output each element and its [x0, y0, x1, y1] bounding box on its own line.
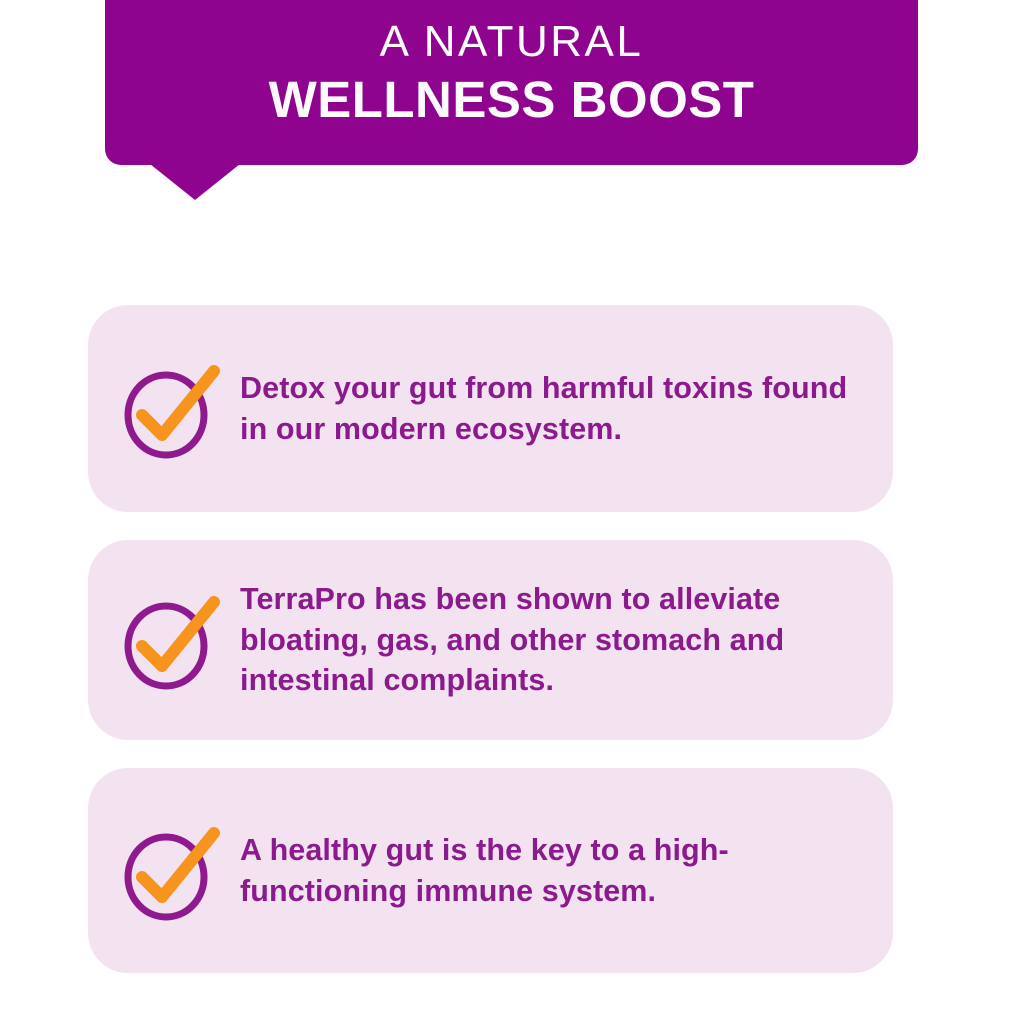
headline-main: WELLNESS BOOST	[269, 74, 755, 125]
header-banner: A NATURAL WELLNESS BOOST	[105, 0, 918, 165]
benefit-card: A healthy gut is the key to a high-funct…	[88, 768, 893, 973]
headline-top: A NATURAL	[380, 20, 644, 64]
benefit-text: TerraPro has been shown to alleviate blo…	[240, 579, 863, 701]
benefit-card: Detox your gut from harmful toxins found…	[88, 305, 893, 512]
check-circle-icon	[116, 584, 228, 696]
benefit-list: Detox your gut from harmful toxins found…	[88, 305, 893, 973]
check-circle-icon	[116, 815, 228, 927]
benefit-text: Detox your gut from harmful toxins found…	[240, 368, 863, 449]
speech-bubble-tail-icon	[150, 164, 240, 200]
check-circle-icon	[116, 353, 228, 465]
benefit-card: TerraPro has been shown to alleviate blo…	[88, 540, 893, 740]
benefit-text: A healthy gut is the key to a high-funct…	[240, 830, 863, 911]
